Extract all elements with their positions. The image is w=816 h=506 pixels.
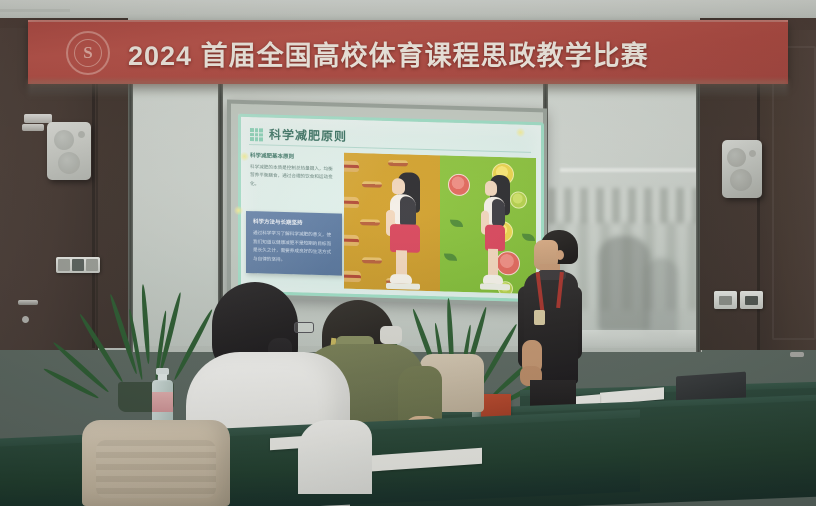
burger-icon: [344, 271, 361, 283]
grapefruit-icon: [448, 174, 470, 197]
hotdog-icon: [362, 257, 382, 264]
hotdog-icon: [360, 219, 380, 226]
banner-title: 2024 首届全国高校体育课程思政教学比赛: [128, 34, 649, 73]
door-handle[interactable]: [18, 300, 38, 305]
emblem-letter: S: [74, 39, 102, 67]
hotdog-icon: [362, 181, 382, 188]
right-door-handle[interactable]: [790, 352, 804, 357]
slide-illustration: [344, 153, 536, 294]
slide-sparkle-icon: [516, 128, 525, 137]
ceiling-seam: [0, 9, 70, 12]
banner-shadow: [28, 80, 788, 98]
conference-room-photo: S 2024 首届全国高校体育课程思政教学比赛 科学减肥原则 科学减肥基本原则 …: [0, 0, 816, 506]
face-mask-icon: [380, 326, 402, 344]
grid-dots-icon: [250, 128, 263, 141]
hotdog-icon: [388, 160, 408, 167]
door-lock-icon[interactable]: [22, 316, 29, 323]
presenter-ear: [556, 250, 564, 260]
event-banner: S 2024 首届全国高校体育课程思政教学比赛: [28, 22, 788, 84]
slide-sparkle-icon: [240, 152, 249, 161]
presenter-badge: [534, 310, 545, 325]
section-one-heading: 科学减肥基本原则: [250, 151, 336, 161]
door-closer-icon: [24, 114, 52, 123]
burger-icon: [344, 197, 359, 209]
university-emblem-icon: S: [66, 31, 110, 75]
bottle-label: [152, 392, 173, 412]
figure-overweight: [380, 172, 428, 291]
burger-icon: [344, 161, 359, 173]
slide-section-two: 科学方法与长期坚持 通过科学学习了解科学减肥的意义，使我们知道以健康减肥不是短期…: [246, 211, 342, 276]
window-rail: [560, 168, 718, 172]
glasses-icon: [294, 322, 314, 333]
slide-section-one: 科学减肥基本原则 科学减肥的本质是控制总热量摄入，均衡营养平衡膳食，通过合理的饮…: [250, 151, 336, 191]
figure-slim: [474, 174, 516, 293]
slide-title: 科学减肥原则: [269, 126, 347, 145]
light-switch-panel-right[interactable]: [714, 291, 764, 309]
presentation-slide: 科学减肥原则 科学减肥基本原则 科学减肥的本质是控制总热量摄入，均衡营养平衡膳食…: [238, 114, 544, 303]
slide-sparkle-icon: [234, 206, 243, 215]
outdoor-person-silhouette-2: [644, 258, 678, 336]
outdoor-person-silhouette: [598, 236, 650, 332]
section-one-body: 科学减肥的本质是控制总热量摄入，均衡营养平衡膳食，通过合理的饮食和运动变化。: [250, 163, 336, 191]
section-two-heading: 科学方法与长期坚持: [253, 217, 335, 227]
chair-cover-folds: [96, 440, 216, 498]
section-two-body: 通过科学学习了解科学减肥的意义，使我们知道以健康减肥不是短期的目标而是长久之计，…: [253, 229, 335, 266]
wall-speaker-left: [47, 122, 91, 180]
door-closer-arm-icon: [22, 124, 44, 131]
burger-icon: [344, 235, 359, 247]
judge-one-arm: [298, 420, 372, 494]
light-switch-panel-left[interactable]: [56, 257, 100, 273]
wall-speaker-right: [722, 140, 762, 198]
